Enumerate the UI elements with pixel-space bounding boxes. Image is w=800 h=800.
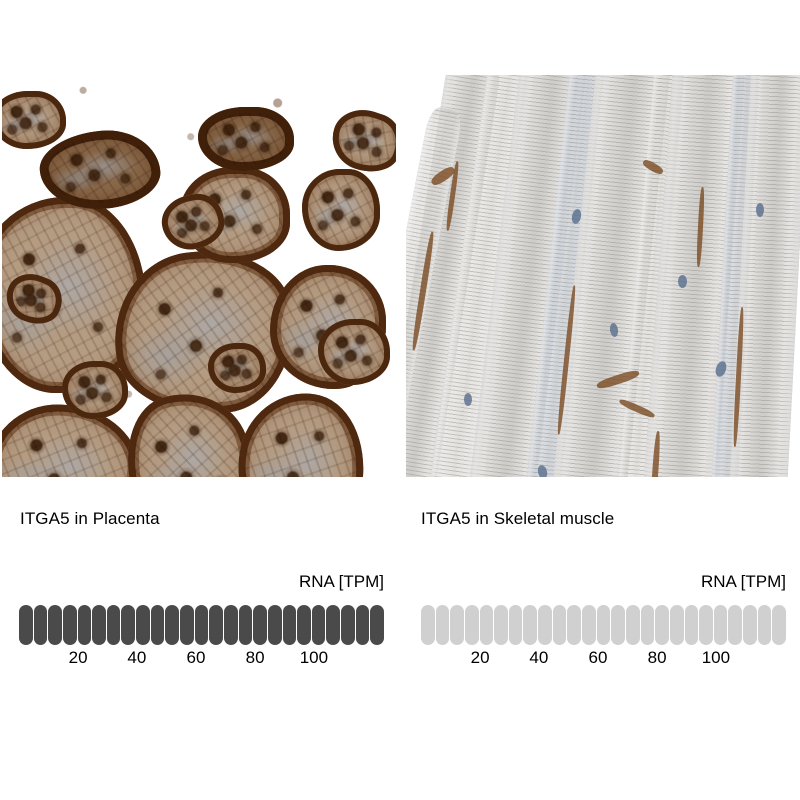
rna-bar-segment (509, 605, 523, 645)
rna-bar-segment (597, 605, 611, 645)
villus (62, 361, 128, 419)
placenta-micrograph-image (2, 75, 396, 477)
rna-bar-segment (523, 605, 537, 645)
villus (302, 169, 380, 251)
cell-nucleus (756, 203, 764, 217)
rna-bar-segment (326, 605, 340, 645)
rna-legend-title: RNA [TPM] (299, 572, 384, 592)
rna-bar-segment (92, 605, 106, 645)
rna-bar-segment (494, 605, 508, 645)
rna-tick-label: 100 (300, 648, 328, 668)
rna-bar-segment (48, 605, 62, 645)
rna-bar-segment (297, 605, 311, 645)
rna-bar-segment (224, 605, 238, 645)
rna-bar-segment (107, 605, 121, 645)
rna-bar-segment (582, 605, 596, 645)
rna-bar-segment (180, 605, 194, 645)
rna-bar-segment (480, 605, 494, 645)
rna-expression-bar[interactable] (421, 605, 786, 645)
rna-expression-bar[interactable] (19, 605, 384, 645)
rna-bar-segment (209, 605, 223, 645)
rna-bar-segment (611, 605, 625, 645)
rna-bar-segment (728, 605, 742, 645)
rna-tick-label: 100 (702, 648, 730, 668)
rna-axis-ticks: 20406080100 (19, 648, 384, 670)
rna-bar-segment (743, 605, 757, 645)
rna-bar-segment (165, 605, 179, 645)
rna-bar-segment (538, 605, 552, 645)
rna-tick-label: 80 (648, 648, 667, 668)
rna-bar-segment (670, 605, 684, 645)
caption-placenta: ITGA5 in Placenta (20, 509, 160, 529)
rna-bar-segment (685, 605, 699, 645)
rna-legend-title: RNA [TPM] (701, 572, 786, 592)
rna-tick-label: 40 (529, 648, 548, 668)
rna-bar-segment (655, 605, 669, 645)
rna-bar-segment (341, 605, 355, 645)
rna-bar-segment (239, 605, 253, 645)
rna-bar-segment (312, 605, 326, 645)
rna-bar-segment (195, 605, 209, 645)
villus (208, 343, 266, 393)
rna-bar-segment (421, 605, 435, 645)
rna-bar-segment (641, 605, 655, 645)
villus (198, 107, 294, 171)
rna-bar-segment (356, 605, 370, 645)
rna-bar-segment (370, 605, 384, 645)
rna-bar-segment (567, 605, 581, 645)
rna-tick-label: 20 (471, 648, 490, 668)
cell-nucleus (678, 275, 687, 288)
rna-bar-segment (34, 605, 48, 645)
rna-tick-label: 20 (69, 648, 88, 668)
rna-bar-segment (136, 605, 150, 645)
rna-tick-label: 40 (127, 648, 146, 668)
rna-bar-segment (772, 605, 786, 645)
rna-bar-segment (758, 605, 772, 645)
rna-bar-segment (553, 605, 567, 645)
villus (318, 319, 390, 385)
rna-bar-segment (121, 605, 135, 645)
rna-bar-segment (78, 605, 92, 645)
rna-axis-ticks: 20406080100 (421, 648, 786, 670)
rna-bar-segment (626, 605, 640, 645)
rna-bar-segment (151, 605, 165, 645)
rna-bar-segment (19, 605, 33, 645)
micrograph-panel-skeletal-muscle[interactable] (406, 75, 800, 477)
rna-bar-segment (699, 605, 713, 645)
rna-tick-label: 60 (187, 648, 206, 668)
rna-tick-label: 80 (246, 648, 265, 668)
rna-bar-segment (268, 605, 282, 645)
cell-nucleus (464, 393, 472, 406)
rna-bar-segment (436, 605, 450, 645)
rna-bar-segment (465, 605, 479, 645)
rna-bar-segment (63, 605, 77, 645)
rna-bar-segment (283, 605, 297, 645)
skeletal-muscle-micrograph-image (406, 75, 800, 477)
rna-bar-segment (253, 605, 267, 645)
caption-skeletal-muscle: ITGA5 in Skeletal muscle (421, 509, 614, 529)
micrograph-panel-placenta[interactable] (2, 75, 396, 477)
rna-bar-segment (450, 605, 464, 645)
rna-bar-segment (714, 605, 728, 645)
tissue-comparison-figure: ITGA5 in Placenta ITGA5 in Skeletal musc… (0, 0, 800, 800)
rna-tick-label: 60 (589, 648, 608, 668)
